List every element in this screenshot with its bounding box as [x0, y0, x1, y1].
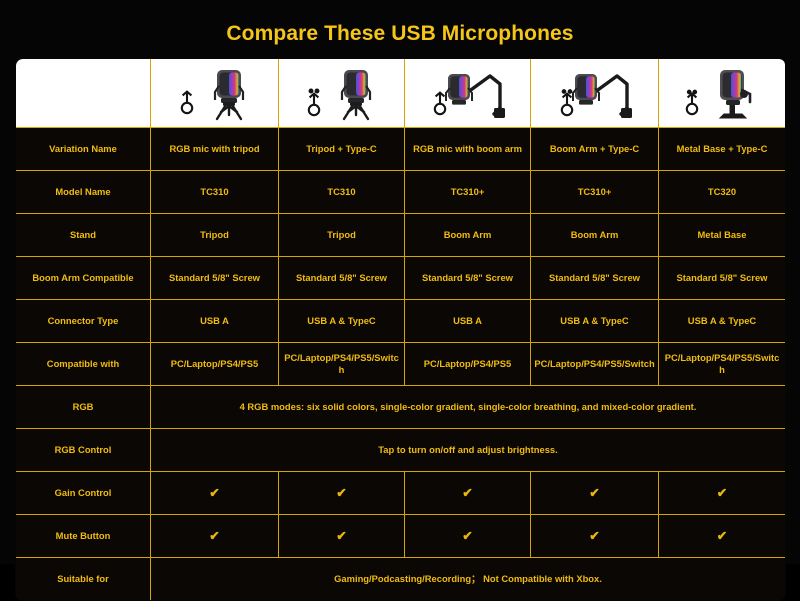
- table-row: RGB Control Tap to turn on/off and adjus…: [16, 429, 786, 472]
- row-label-connector-type: Connector Type: [16, 300, 151, 343]
- cell-gain-control-1: ✔: [151, 472, 279, 515]
- cell-variation-name-4: Boom Arm + Type-C: [531, 128, 659, 171]
- table-row: Mute Button ✔ ✔ ✔ ✔ ✔: [16, 515, 786, 558]
- cell-rgb-control-merged: Tap to turn on/off and adjust brightness…: [151, 429, 786, 472]
- cell-model-name-1: TC310: [151, 171, 279, 214]
- checkmark-icon: ✔: [589, 487, 599, 500]
- product-image-cell-4: [531, 59, 659, 128]
- product-image-cell-1: [151, 59, 279, 128]
- checkmark-icon: ✔: [209, 487, 219, 500]
- row-label-gain-control: Gain Control: [16, 472, 151, 515]
- cell-stand-1: Tripod: [151, 214, 279, 257]
- cell-gain-control-5: ✔: [659, 472, 786, 515]
- table-row: Stand Tripod Tripod Boom Arm Boom Arm Me…: [16, 214, 786, 257]
- checkmark-icon: ✔: [336, 530, 346, 543]
- cell-stand-2: Tripod: [279, 214, 405, 257]
- mic-metal-base-icon: [659, 59, 785, 127]
- cell-mute-button-5: ✔: [659, 515, 786, 558]
- table-row: RGB 4 RGB modes: six solid colors, singl…: [16, 386, 786, 429]
- cell-compatible-with-5: PC/Laptop/PS4/PS5/Switch: [659, 343, 786, 386]
- product-image-row: [16, 59, 786, 128]
- mic-tripod-1-icon: [151, 59, 278, 127]
- product-image-cell-3: [405, 59, 531, 128]
- table-row: Compatible with PC/Laptop/PS4/PS5 PC/Lap…: [16, 343, 786, 386]
- cell-stand-5: Metal Base: [659, 214, 786, 257]
- page-title: Compare These USB Microphones: [0, 0, 800, 57]
- cell-mute-button-4: ✔: [531, 515, 659, 558]
- product-image-cell-5: [659, 59, 786, 128]
- image-row-empty-cell: [16, 59, 151, 128]
- cell-compatible-with-4: PC/Laptop/PS4/PS5/Switch: [531, 343, 659, 386]
- cell-mute-button-2: ✔: [279, 515, 405, 558]
- cell-stand-4: Boom Arm: [531, 214, 659, 257]
- cell-variation-name-1: RGB mic with tripod: [151, 128, 279, 171]
- table-row: Variation Name RGB mic with tripod Tripo…: [16, 128, 786, 171]
- mic-boom-1-icon: [405, 59, 530, 127]
- row-label-stand: Stand: [16, 214, 151, 257]
- table-row: Connector Type USB A USB A & TypeC USB A…: [16, 300, 786, 343]
- cell-model-name-5: TC320: [659, 171, 786, 214]
- cell-mute-button-1: ✔: [151, 515, 279, 558]
- checkmark-icon: ✔: [717, 530, 727, 543]
- cell-model-name-4: TC310+: [531, 171, 659, 214]
- cell-gain-control-2: ✔: [279, 472, 405, 515]
- cell-mute-button-3: ✔: [405, 515, 531, 558]
- cell-gain-control-4: ✔: [531, 472, 659, 515]
- cell-connector-type-2: USB A & TypeC: [279, 300, 405, 343]
- comparison-table: Variation Name RGB mic with tripod Tripo…: [15, 58, 786, 601]
- mic-tripod-2-icon: [279, 59, 404, 127]
- mic-boom-2-icon: [531, 59, 658, 127]
- cell-variation-name-2: Tripod + Type-C: [279, 128, 405, 171]
- cell-boom-arm-compatible-1: Standard 5/8" Screw: [151, 257, 279, 300]
- cell-compatible-with-1: PC/Laptop/PS4/PS5: [151, 343, 279, 386]
- row-label-model-name: Model Name: [16, 171, 151, 214]
- table-row: Model Name TC310 TC310 TC310+ TC310+ TC3…: [16, 171, 786, 214]
- cell-variation-name-5: Metal Base + Type-C: [659, 128, 786, 171]
- checkmark-icon: ✔: [462, 530, 472, 543]
- row-label-compatible-with: Compatible with: [16, 343, 151, 386]
- cell-boom-arm-compatible-4: Standard 5/8" Screw: [531, 257, 659, 300]
- cell-connector-type-3: USB A: [405, 300, 531, 343]
- checkmark-icon: ✔: [717, 487, 727, 500]
- cell-model-name-2: TC310: [279, 171, 405, 214]
- cell-compatible-with-3: PC/Laptop/PS4/PS5: [405, 343, 531, 386]
- checkmark-icon: ✔: [589, 530, 599, 543]
- row-label-rgb: RGB: [16, 386, 151, 429]
- cell-rgb-merged: 4 RGB modes: six solid colors, single-co…: [151, 386, 786, 429]
- cell-stand-3: Boom Arm: [405, 214, 531, 257]
- checkmark-icon: ✔: [462, 487, 472, 500]
- cell-connector-type-5: USB A & TypeC: [659, 300, 786, 343]
- cell-boom-arm-compatible-2: Standard 5/8" Screw: [279, 257, 405, 300]
- row-label-mute-button: Mute Button: [16, 515, 151, 558]
- row-label-boom-arm-compatible: Boom Arm Compatible: [16, 257, 151, 300]
- comparison-table-wrapper: Variation Name RGB mic with tripod Tripo…: [15, 58, 785, 548]
- cell-model-name-3: TC310+: [405, 171, 531, 214]
- table-row: Boom Arm Compatible Standard 5/8" Screw …: [16, 257, 786, 300]
- table-row: Gain Control ✔ ✔ ✔ ✔ ✔: [16, 472, 786, 515]
- comparison-page: Compare These USB Microphones: [0, 0, 800, 564]
- cell-compatible-with-2: PC/Laptop/PS4/PS5/Switch: [279, 343, 405, 386]
- cell-boom-arm-compatible-5: Standard 5/8" Screw: [659, 257, 786, 300]
- row-label-variation-name: Variation Name: [16, 128, 151, 171]
- checkmark-icon: ✔: [336, 487, 346, 500]
- cell-gain-control-3: ✔: [405, 472, 531, 515]
- cell-boom-arm-compatible-3: Standard 5/8" Screw: [405, 257, 531, 300]
- cell-connector-type-4: USB A & TypeC: [531, 300, 659, 343]
- cell-variation-name-3: RGB mic with boom arm: [405, 128, 531, 171]
- product-image-cell-2: [279, 59, 405, 128]
- checkmark-icon: ✔: [209, 530, 219, 543]
- row-label-rgb-control: RGB Control: [16, 429, 151, 472]
- cell-connector-type-1: USB A: [151, 300, 279, 343]
